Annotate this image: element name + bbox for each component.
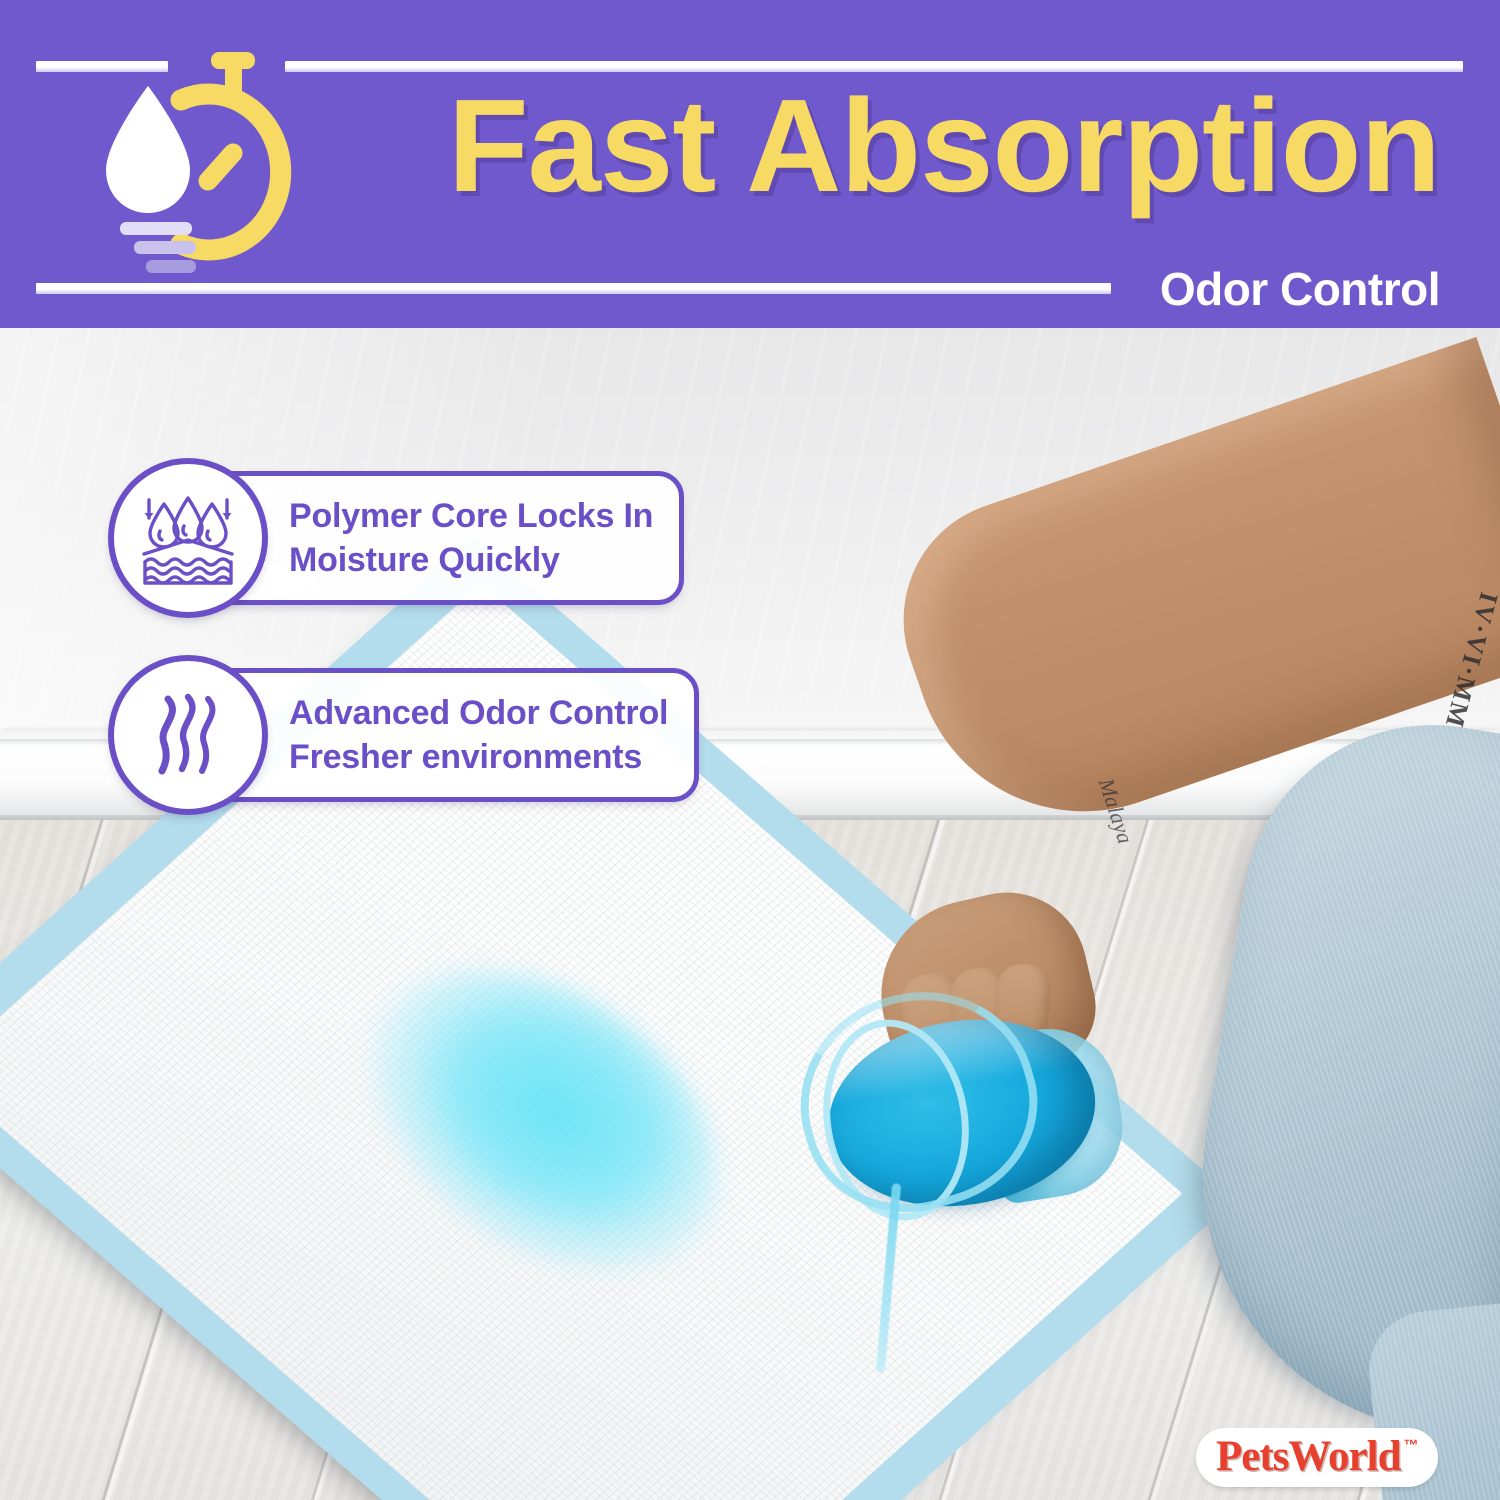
callout-icon-circle — [108, 458, 268, 618]
trademark-symbol: ™ — [1403, 1437, 1418, 1454]
page-subtitle: Odor Control — [1130, 262, 1440, 316]
callout-line-1: Polymer Core Locks In — [289, 494, 653, 538]
absorbed-liquid-stain — [305, 908, 785, 1331]
odor-waves-icon — [138, 685, 238, 785]
callout-odor-control[interactable]: Advanced Odor Control Fresher environmen… — [108, 655, 699, 815]
callout-line-2: Moisture Quickly — [289, 538, 653, 582]
water-absorption-icon — [134, 484, 242, 592]
product-feature-image: Fast Absorption Odor Control IV·VI·MMXXI… — [0, 0, 1500, 1500]
page-title: Fast Absorption — [380, 80, 1440, 212]
header-banner: Fast Absorption Odor Control — [0, 0, 1500, 328]
top-right-rule — [285, 61, 1463, 72]
brand-name: PetsWorld — [1216, 1435, 1400, 1478]
brand-logo[interactable]: PetsWorld ™ — [1196, 1428, 1438, 1487]
callout-line-2: Fresher environments — [289, 735, 668, 779]
callout-icon-circle — [108, 655, 268, 815]
callout-text-bubble: Advanced Odor Control Fresher environmen… — [206, 668, 699, 802]
callout-text-bubble: Polymer Core Locks In Moisture Quickly — [206, 471, 684, 605]
droplet-stopwatch-icon — [88, 48, 308, 288]
callout-line-1: Advanced Odor Control — [289, 691, 668, 735]
callout-polymer-core[interactable]: Polymer Core Locks In Moisture Quickly — [108, 458, 684, 618]
